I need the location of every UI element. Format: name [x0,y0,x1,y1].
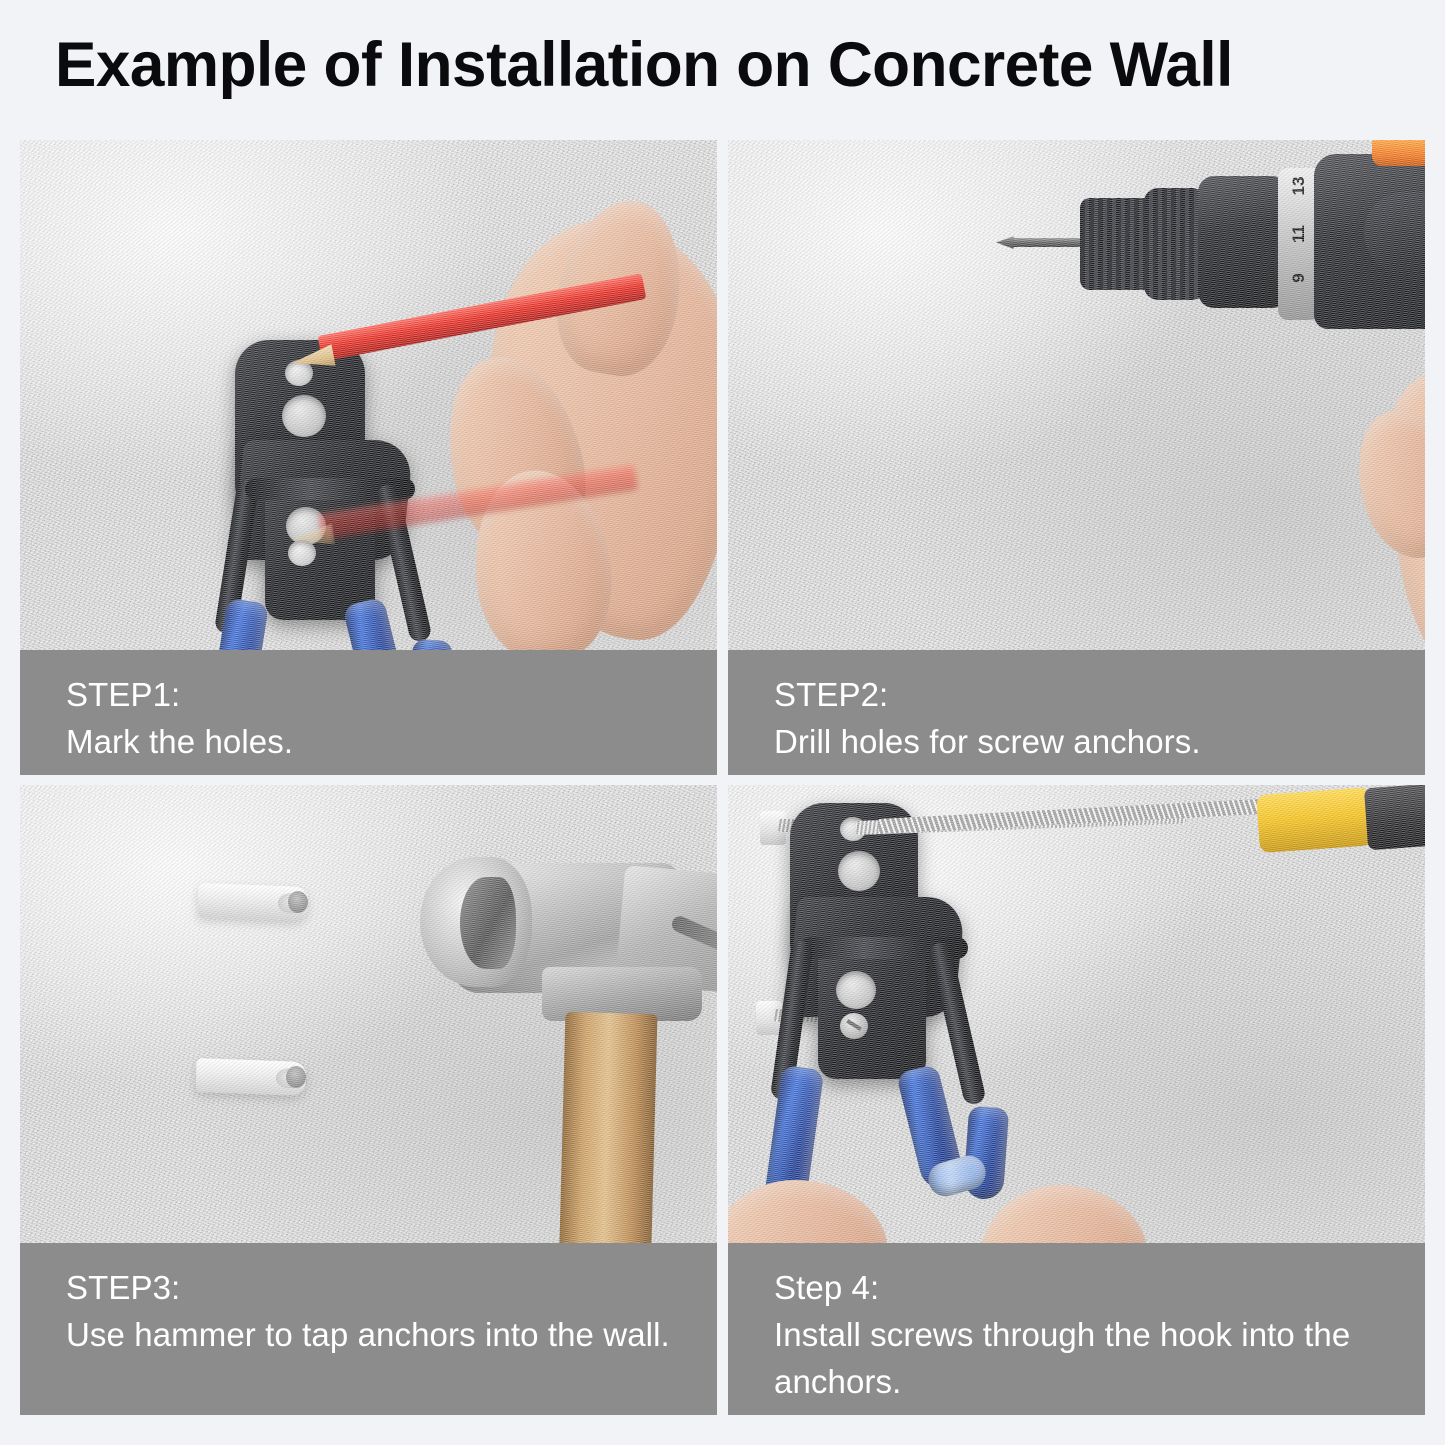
installation-guide-page: Example of Installation on Concrete Wall [0,0,1445,1445]
scene-drill-holes: 13 11 9 [728,140,1425,650]
scene-tap-anchors [20,785,717,1243]
drill-bit-tip [996,236,1014,249]
step-2-caption: STEP2: Drill holes for screw anchors. [728,650,1425,775]
steps-grid: STEP1: Mark the holes. 13 [20,140,1425,1415]
mounting-hole-second [838,851,880,891]
hammer-face-shadow [460,877,516,969]
hammer-handle [555,1012,658,1243]
step-panel-3: STEP3: Use hammer to tap anchors into th… [20,785,717,1415]
mounting-hole-second [282,395,326,437]
clutch-number-11: 11 [1289,213,1309,255]
step-2-text: Drill holes for screw anchors. [774,719,1381,766]
step-4-photo [728,785,1425,1243]
hook-mounting-plate-bottom [265,485,375,620]
drill-chuck-rear [1144,188,1206,300]
step-2-label: STEP2: [774,672,1381,719]
hook-tip-right-upturn [407,639,453,650]
page-title: Example of Installation on Concrete Wall [55,32,1385,98]
step-panel-2: 13 11 9 [728,140,1425,775]
drill-gearbox [1198,176,1288,308]
step-panel-1: STEP1: Mark the holes. [20,140,717,775]
step-3-caption: STEP3: Use hammer to tap anchors into th… [20,1243,717,1415]
step-1-text: Mark the holes. [66,719,673,766]
screwdriver-shaft [878,799,1268,834]
step-3-label: STEP3: [66,1265,673,1312]
thumb-on-grip [1339,396,1425,571]
wall-anchor-upper-bore [288,891,308,913]
step-4-text: Install screws through the hook into the… [774,1312,1381,1406]
drill-chuck [1080,198,1150,290]
drill-top-accent [1372,140,1425,166]
mounting-hole-third [836,971,876,1009]
hook-mounting-plate-bottom [818,943,926,1079]
clutch-number-9: 9 [1289,257,1309,299]
clutch-number-13: 13 [1289,165,1309,207]
step-3-photo [20,785,717,1243]
scene-mark-the-holes [20,140,717,650]
hand-lower-left [728,1180,888,1243]
drill-bit [1008,238,1088,247]
step-1-label: STEP1: [66,672,673,719]
step-1-caption: STEP1: Mark the holes. [20,650,717,775]
mounting-hole-bottom [288,540,316,566]
step-panel-4: Step 4: Install screws through the hook … [728,785,1425,1415]
step-2-photo: 13 11 9 [728,140,1425,650]
step-1-photo [20,140,717,650]
screwdriver-handle [1256,787,1380,853]
step-4-caption: Step 4: Install screws through the hook … [728,1243,1425,1415]
screwdriver-handle-cap [1364,785,1425,850]
scene-install-screws [728,785,1425,1243]
step-4-label: Step 4: [774,1265,1381,1312]
wall-anchor-lower-bore [286,1066,306,1088]
step-3-text: Use hammer to tap anchors into the wall. [66,1312,673,1359]
finger-lower-right [978,1185,1148,1243]
